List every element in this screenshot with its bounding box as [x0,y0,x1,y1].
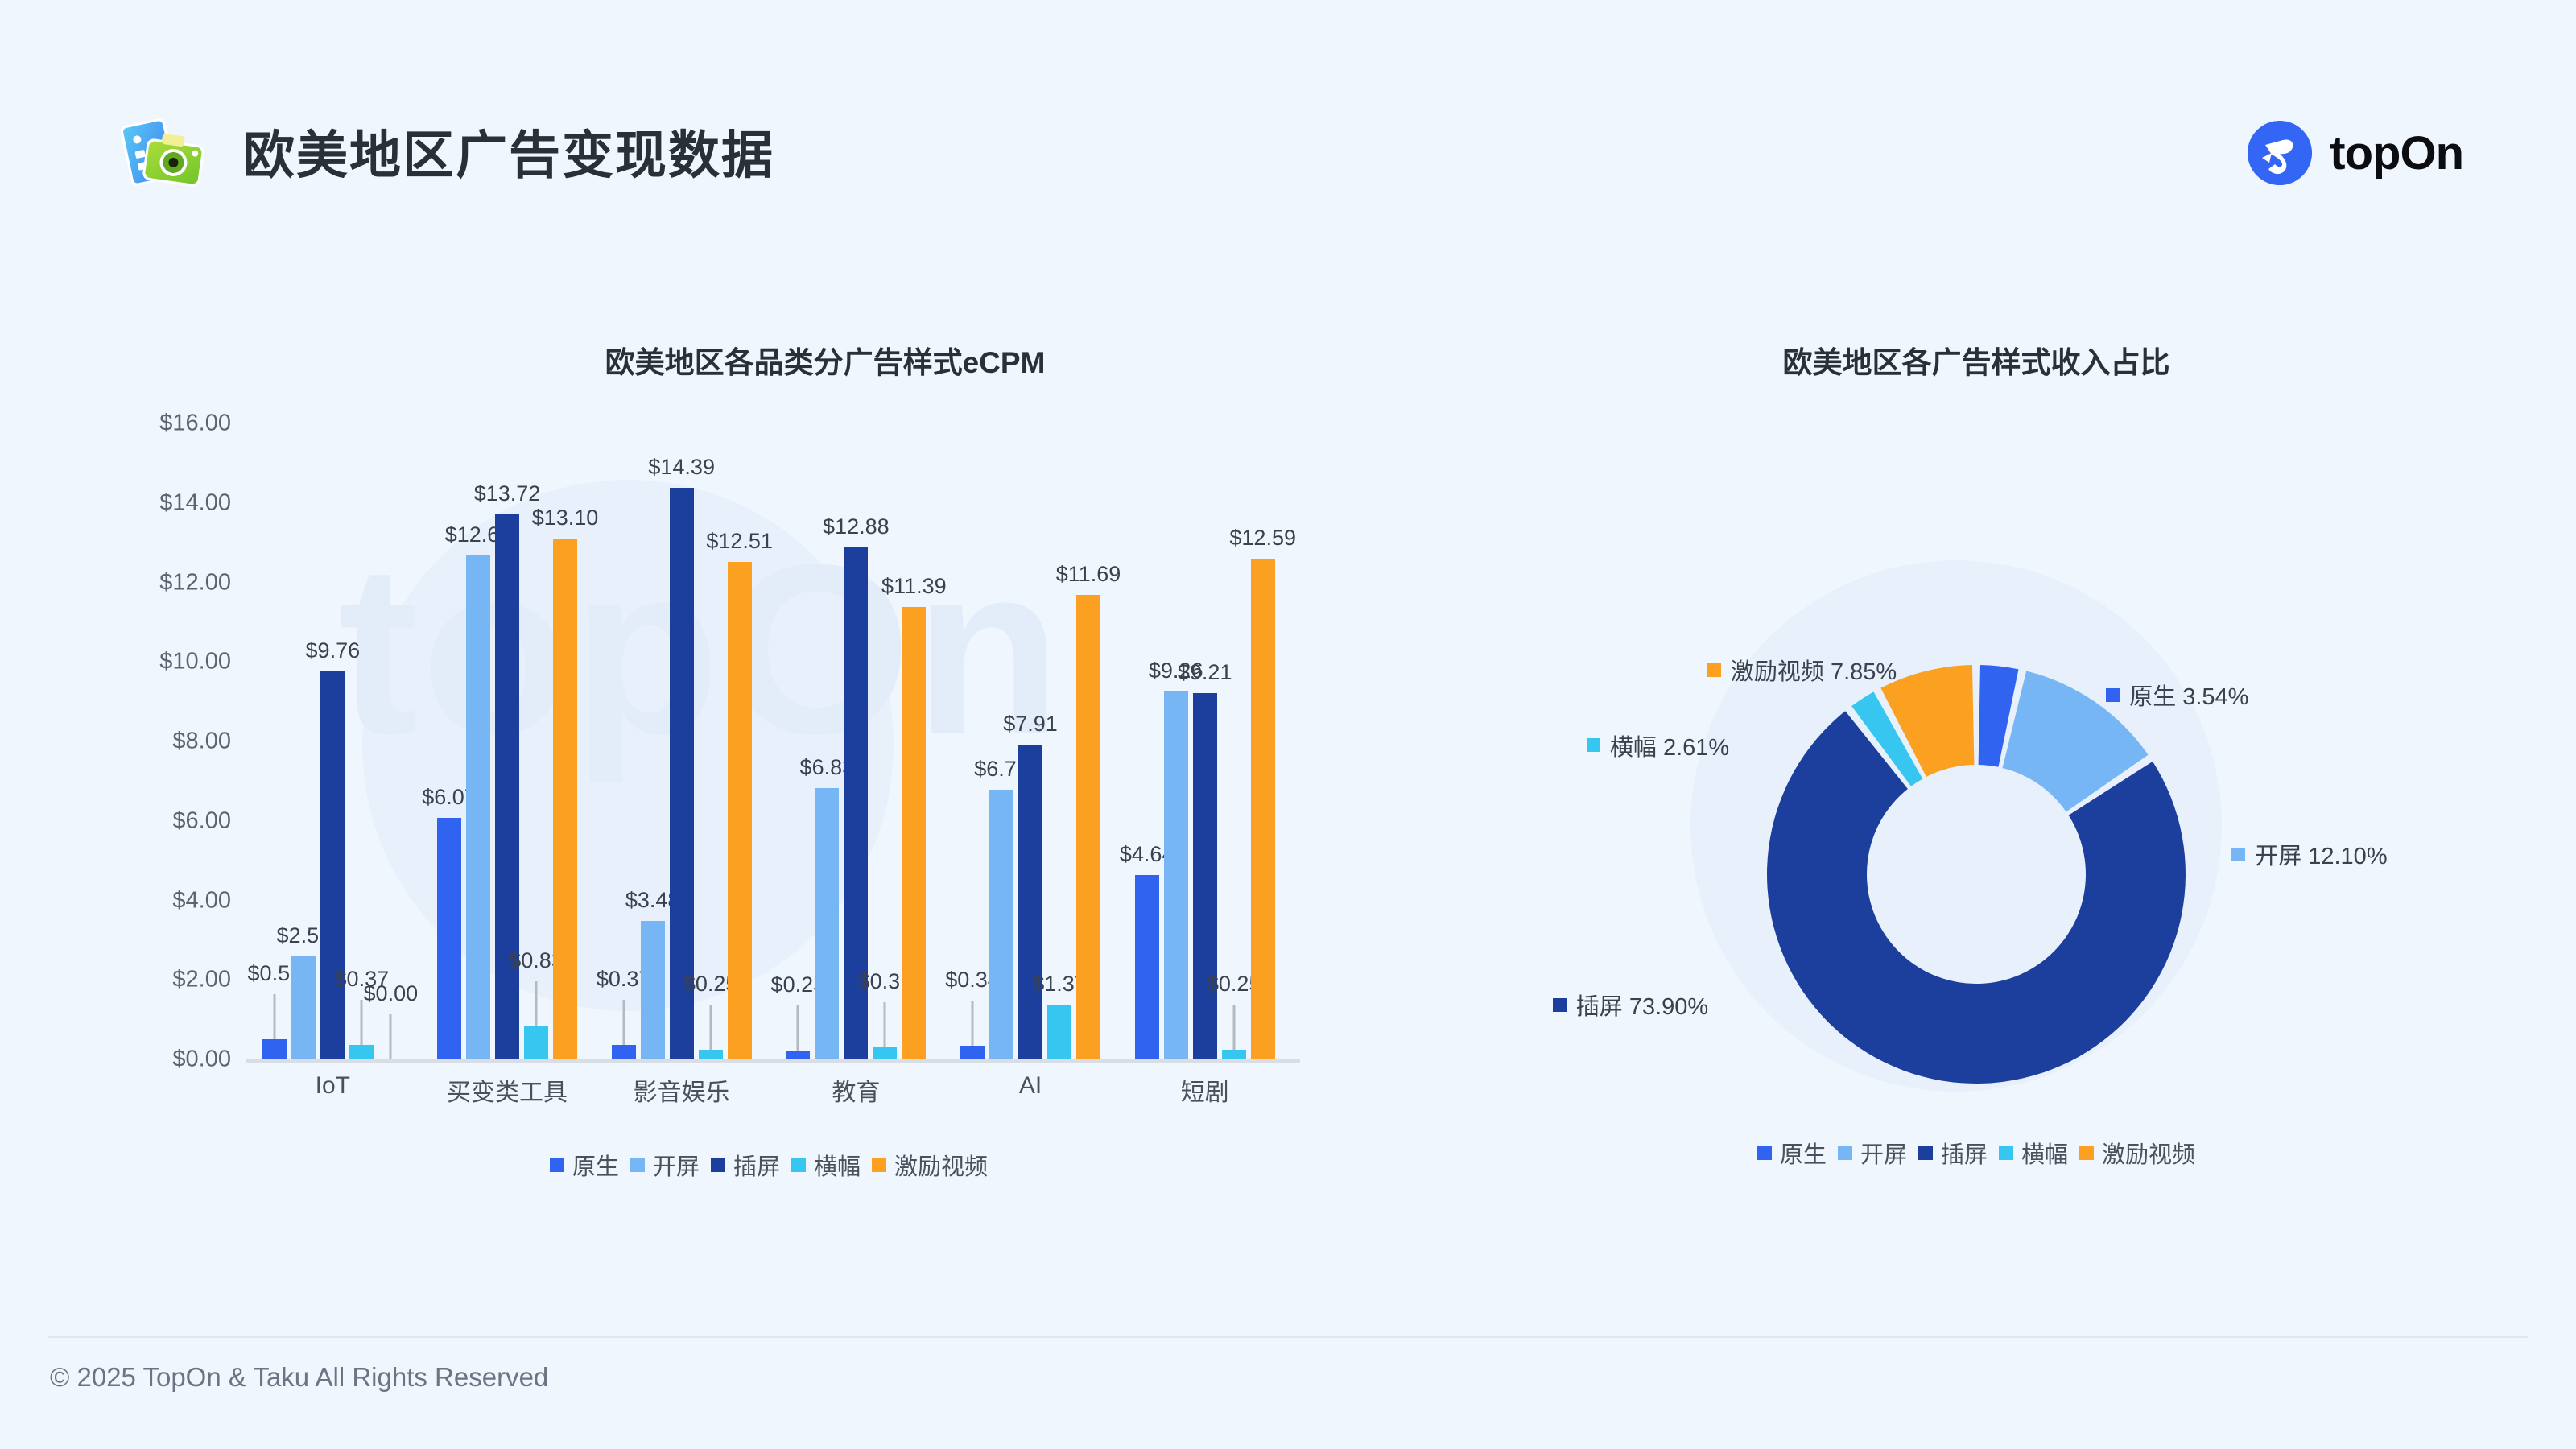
x-axis-tick: AI [943,1072,1118,1108]
bar-column[interactable]: $1.37 [1047,423,1071,1059]
legend-item[interactable]: 横幅 [791,1148,861,1182]
label-leader-line [797,1005,799,1051]
legend-item[interactable]: 激励视频 [2079,1136,2195,1170]
label-leader-line [361,1000,363,1045]
legend-swatch-icon [1707,663,1721,677]
legend-swatch-icon [1999,1146,2013,1160]
bar-column[interactable]: $7.91 [1018,423,1042,1059]
bar-插屏[interactable] [495,514,519,1059]
bar-group: $4.64$9.26$9.21$0.25$12.59 [1117,423,1292,1059]
topon-logo-icon [2248,121,2312,185]
donut-slice-label: 原生 3.54% [2106,678,2248,712]
donut-label-text: 横幅 2.61% [1610,729,1729,762]
legend-label: 插屏 [1941,1136,1988,1170]
bar-column[interactable]: $0.00 [378,423,402,1059]
legend-label: 开屏 [1860,1136,1907,1170]
donut-chart-plot: 原生开屏插屏横幅激励视频 原生 3.54%开屏 12.10%插屏 73.90%横… [1473,423,2479,1228]
donut-label-text: 开屏 12.10% [2255,837,2387,871]
bar-column[interactable]: $12.88 [844,423,868,1059]
bar-激励视频[interactable] [902,607,926,1059]
bar-column[interactable]: $0.37 [612,423,636,1059]
brand-row: 欧美地区广告变现数据 [121,113,774,190]
bar-原生[interactable] [1135,875,1159,1059]
bar-横幅[interactable] [524,1026,548,1059]
bar-原生[interactable] [437,818,461,1059]
donut-slice-label: 激励视频 7.85% [1473,653,1897,687]
label-leader-line [884,1002,886,1047]
legend-swatch-icon [711,1158,725,1172]
legend-swatch-icon [872,1158,886,1172]
bar-value-label: $13.10 [532,506,599,530]
y-axis-tick: $0.00 [172,1046,231,1073]
legend-item[interactable]: 开屏 [630,1148,700,1182]
bar-group: $0.34$6.79$7.91$1.37$11.69 [943,423,1118,1059]
x-axis-tick: 教育 [769,1072,943,1108]
y-axis-tick: $16.00 [159,411,231,437]
label-leader-line [1232,1005,1235,1050]
bar-value-label: $0.00 [364,981,419,1006]
legend-label: 激励视频 [894,1148,988,1182]
bar-column[interactable]: $12.51 [728,423,752,1059]
bar-column[interactable]: $13.10 [553,423,577,1059]
y-axis-tick: $8.00 [172,729,231,755]
label-leader-line [972,1001,974,1046]
bar-column[interactable]: $12.67 [466,423,490,1059]
bar-column[interactable]: $9.26 [1164,423,1188,1059]
bar-column[interactable]: $12.59 [1251,423,1275,1059]
topon-logo-text: topOn [2330,126,2463,180]
legend-swatch-icon [791,1158,806,1172]
bar-原生[interactable] [262,1039,287,1059]
bar-chart-plot: topOn $16.00$14.00$12.00$10.00$8.00$6.00… [97,423,1449,1228]
bar-column[interactable]: $9.21 [1193,423,1217,1059]
bar-column[interactable]: $4.64 [1135,423,1159,1059]
bar-原生[interactable] [960,1046,985,1059]
y-axis-tick: $4.00 [172,887,231,914]
legend-label: 插屏 [733,1148,780,1182]
legend-item[interactable]: 激励视频 [872,1148,988,1182]
legend-label: 开屏 [653,1148,700,1182]
legend-swatch-icon [1757,1146,1772,1160]
label-leader-line [274,994,276,1039]
bar-开屏[interactable] [466,555,490,1059]
legend-swatch-icon [2079,1146,2094,1160]
bar-横幅[interactable] [873,1047,897,1059]
bar-激励视频[interactable] [1251,559,1275,1059]
bar-横幅[interactable] [699,1050,723,1059]
y-axis-tick: $14.00 [159,489,231,516]
bar-column[interactable]: $14.39 [670,423,694,1059]
legend-label: 横幅 [814,1148,861,1182]
legend-item[interactable]: 插屏 [711,1148,780,1182]
legend-swatch-icon [1918,1146,1933,1160]
legend-item[interactable]: 插屏 [1918,1136,1988,1170]
x-axis: IoT买变类工具影音娱乐教育AI短剧 [246,1072,1292,1108]
bar-column[interactable]: $3.48 [641,423,665,1059]
y-axis-tick: $12.00 [159,569,231,596]
legend-swatch-icon [1838,1146,1852,1160]
bar-column[interactable]: $0.50 [262,423,287,1059]
donut-chart-panel: 欧美地区各广告样式收入占比 原生开屏插屏横幅激励视频 原生 3.54%开屏 12… [1473,338,2479,1240]
donut-slice-label: 开屏 12.10% [2231,837,2387,871]
bar-column[interactable]: $11.39 [902,423,926,1059]
label-leader-line [390,1014,392,1059]
page-title: 欧美地区广告变现数据 [243,114,774,188]
label-leader-line [622,1000,625,1045]
legend-swatch-icon [1587,738,1600,752]
bar-插屏[interactable] [1018,745,1042,1059]
donut-graphic [1767,665,2186,1084]
bar-column[interactable]: $0.25 [699,423,723,1059]
bar-value-label: $12.51 [706,529,773,554]
donut-slice-label: 横幅 2.61% [1473,729,1729,762]
legend-label: 原生 [572,1148,619,1182]
topon-logo: topOn [2248,121,2463,185]
y-axis-tick: $6.00 [172,807,231,834]
legend-swatch-icon [1553,998,1567,1012]
bar-column[interactable]: $6.79 [989,423,1013,1059]
legend-item[interactable]: 横幅 [1999,1136,2068,1170]
bar-group: $0.50$2.59$9.76$0.37$0.00 [246,423,420,1059]
bar-开屏[interactable] [291,956,316,1059]
bar-插屏[interactable] [320,671,345,1059]
bar-value-label: $12.59 [1229,526,1296,551]
bar-column[interactable]: $9.76 [320,423,345,1059]
bar-group: $0.23$6.83$12.88$0.31$11.39 [769,423,943,1059]
bar-column[interactable]: $0.37 [349,423,374,1059]
y-axis-tick: $10.00 [159,649,231,675]
bar-开屏[interactable] [1164,691,1188,1059]
bar-value-label: $11.39 [881,574,947,599]
bar-chart-panel: 欧美地区各品类分广告样式eCPM topOn $16.00$14.00$12.0… [97,338,1449,1240]
bar-原生[interactable] [786,1051,810,1059]
bar-group: $6.07$12.67$13.72$0.83$13.10 [420,423,595,1059]
donut-slice-label: 插屏 73.90% [1473,988,1708,1022]
bar-激励视频[interactable] [1076,595,1100,1059]
bar-column[interactable]: $0.23 [786,423,810,1059]
legend-item[interactable]: 开屏 [1838,1136,1907,1170]
legend-swatch-icon [2106,688,2120,702]
legend-label: 横幅 [2021,1136,2068,1170]
bar-value-label: $11.69 [1056,562,1121,587]
legend-label: 激励视频 [2102,1136,2195,1170]
legend-swatch-icon [630,1158,645,1172]
bars-area: $0.50$2.59$9.76$0.37$0.00$6.07$12.67$13.… [246,423,1292,1059]
legend-swatch-icon [550,1158,564,1172]
donut-chart-legend: 原生开屏插屏横幅激励视频 [1473,1136,2479,1170]
donut-chart-title: 欧美地区各广告样式收入占比 [1473,338,2479,382]
bar-开屏[interactable] [989,790,1013,1059]
x-axis-tick: IoT [246,1072,420,1108]
bar-column[interactable]: $0.31 [873,423,897,1059]
y-axis-tick: $2.00 [172,967,231,993]
bar-开屏[interactable] [641,921,665,1059]
x-axis-baseline [246,1059,1300,1063]
bar-横幅[interactable] [1222,1050,1246,1059]
bar-横幅[interactable] [1047,1005,1071,1059]
bar-column[interactable]: $2.59 [291,423,316,1059]
y-axis: $16.00$14.00$12.00$10.00$8.00$6.00$4.00$… [97,423,246,1059]
bar-激励视频[interactable] [553,539,577,1059]
photo-camera-icon [121,113,216,190]
bar-group: $0.37$3.48$14.39$0.25$12.51 [594,423,769,1059]
donut-label-text: 原生 3.54% [2129,678,2248,712]
bar-插屏[interactable] [1193,693,1217,1059]
legend-swatch-icon [2231,848,2245,861]
legend-item[interactable]: 原生 [550,1148,619,1182]
x-axis-tick: 买变类工具 [420,1072,595,1108]
footer-divider [48,1336,2528,1338]
label-leader-line [709,1005,712,1050]
bar-开屏[interactable] [815,788,839,1059]
bar-原生[interactable] [612,1045,636,1059]
x-axis-tick: 短剧 [1117,1072,1292,1108]
legend-label: 原生 [1780,1136,1827,1170]
legend-item[interactable]: 原生 [1757,1136,1827,1170]
footer-copyright: © 2025 TopOn & Taku All Rights Reserved [50,1362,548,1393]
bar-chart-title: 欧美地区各品类分广告样式eCPM [201,338,1449,382]
x-axis-tick: 影音娱乐 [594,1072,769,1108]
bar-激励视频[interactable] [728,562,752,1059]
donut-label-text: 激励视频 7.85% [1731,653,1897,687]
bar-chart-legend: 原生开屏插屏横幅激励视频 [246,1148,1292,1182]
bar-横幅[interactable] [349,1045,374,1059]
bar-column[interactable]: $0.34 [960,423,985,1059]
donut-label-text: 插屏 73.90% [1576,988,1708,1022]
bar-column[interactable]: $6.07 [437,423,461,1059]
label-leader-line [535,981,538,1026]
bar-column[interactable]: $11.69 [1076,423,1100,1059]
page-header: 欧美地区广告变现数据 topOn [0,0,2576,209]
bar-column[interactable]: $0.25 [1222,423,1246,1059]
